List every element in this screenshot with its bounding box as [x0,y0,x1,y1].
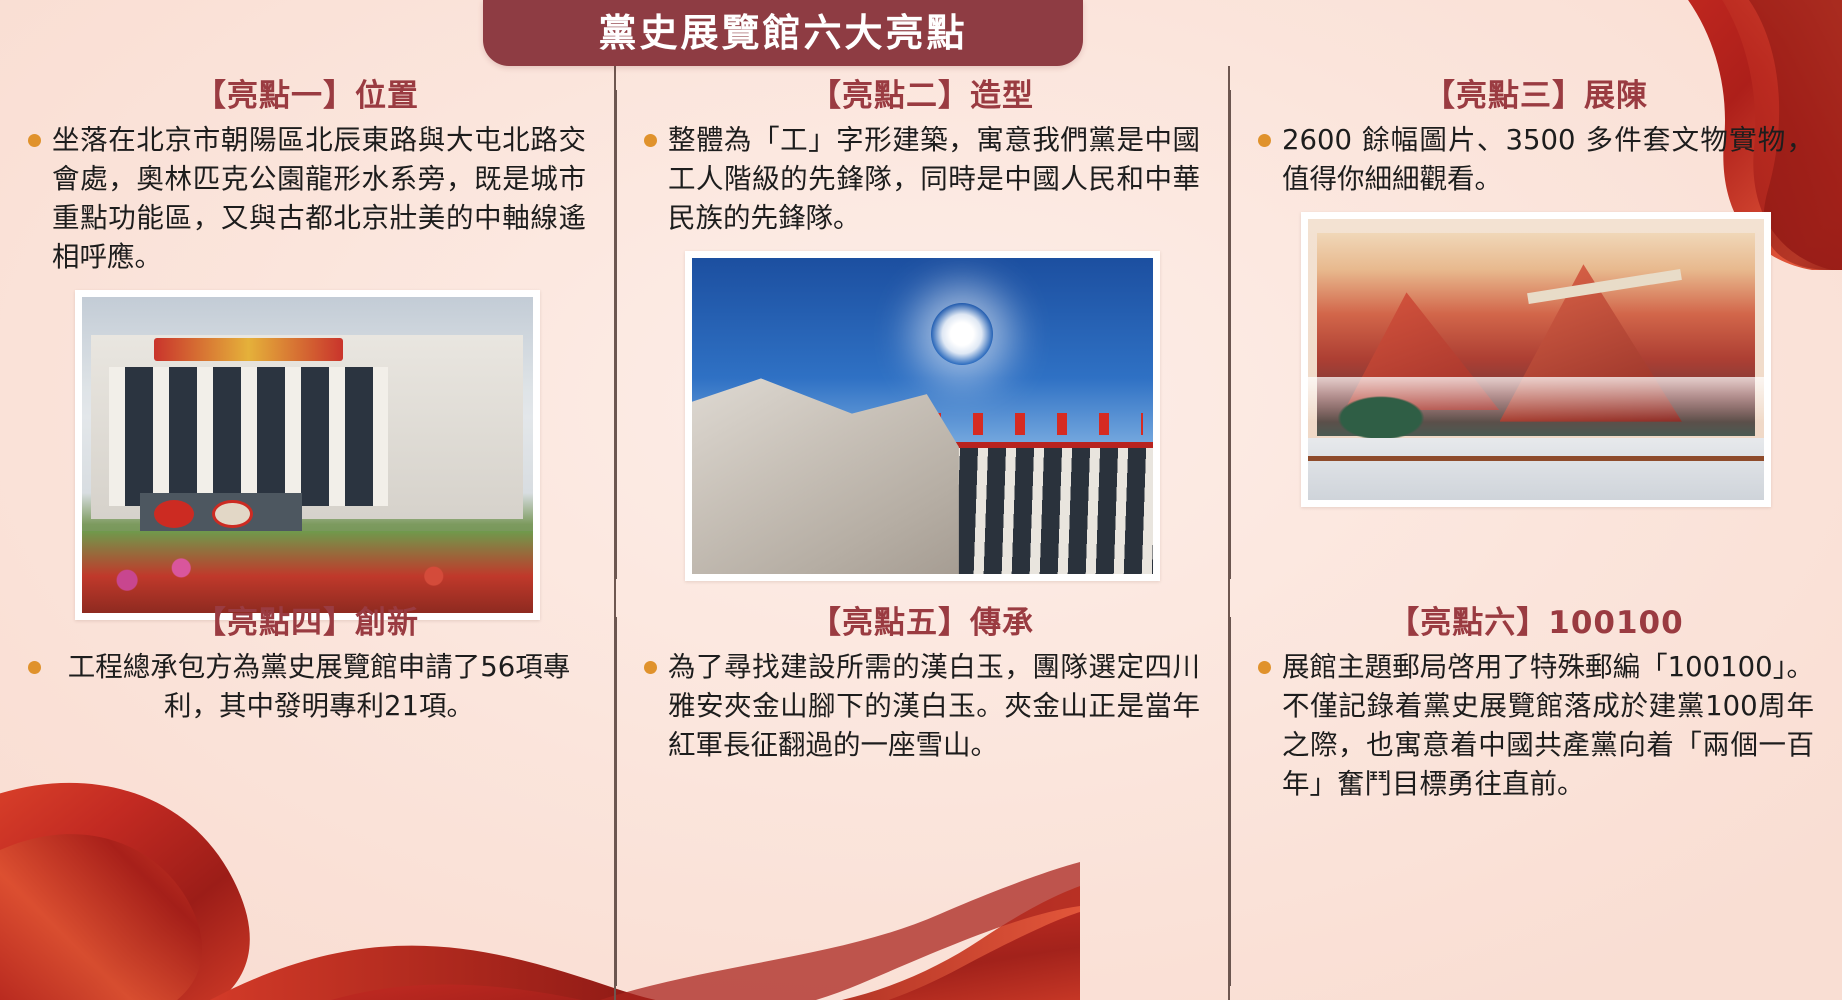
panel-highlight-6: 【亮點六】100100 展館主題郵局啓用了特殊郵編「100100」。不僅記錄着黨… [1228,593,1842,1000]
panel-divider [1229,617,1231,986]
panel-3-body: 2600 餘幅圖片、3500 多件套文物實物，值得你細細觀看。 [1252,121,1820,199]
panel-3-text: 2600 餘幅圖片、3500 多件套文物實物，值得你細細觀看。 [1282,121,1814,199]
panel-1-heading: 【亮點一】位置 [22,78,592,115]
panel-5-heading: 【亮點五】傳承 [638,605,1206,642]
panel-2-text: 整體為「工」字形建築，寓意我們黨是中國工人階級的先鋒隊，同時是中國人民和中華民族… [668,121,1200,238]
panel-6-body: 展館主題郵局啓用了特殊郵編「100100」。不僅記錄着黨史展覽館落成於建黨100… [1252,648,1820,804]
bullet-dot-icon [644,661,657,674]
page-title: 黨史展覽館六大亮點 [598,14,967,52]
panel-highlight-1: 【亮點一】位置 坐落在北京市朝陽區北辰東路與大屯北路交會處，奧林匹克公園龍形水系… [0,66,614,593]
panel-4-text: 工程總承包方為黨史展覽館申請了56項專利，其中發明專利21項。 [52,648,586,726]
panel-1-text: 坐落在北京市朝陽區北辰東路與大屯北路交會處，奧林匹克公園龍形水系旁，既是城市重點… [52,121,586,277]
panel-highlight-5: 【亮點五】傳承 為了尋找建設所需的漢白玉，團隊選定四川雅安夾金山腳下的漢白玉。夾… [614,593,1228,1000]
panel-6-text: 展館主題郵局啓用了特殊郵編「100100」。不僅記錄着黨史展覽館落成於建黨100… [1282,648,1814,804]
panel-6-heading: 【亮點六】100100 [1252,605,1820,642]
panel-1-body: 坐落在北京市朝陽區北辰東路與大屯北路交會處，奧林匹克公園龍形水系旁，既是城市重點… [22,121,592,277]
panel-2-body: 整體為「工」字形建築，寓意我們黨是中國工人階級的先鋒隊，同時是中國人民和中華民族… [638,121,1206,238]
panel-2-photo [685,251,1160,581]
panel-1-photo [75,290,540,620]
panel-4-body: 工程總承包方為黨史展覽館申請了56項專利，其中發明專利21項。 [22,648,592,726]
bullet-dot-icon [1258,661,1271,674]
highlights-grid: 【亮點一】位置 坐落在北京市朝陽區北辰東路與大屯北路交會處，奧林匹克公園龍形水系… [0,66,1842,1000]
bullet-dot-icon [28,661,41,674]
panel-5-body: 為了尋找建設所需的漢白玉，團隊選定四川雅安夾金山腳下的漢白玉。夾金山正是當年紅軍… [638,648,1206,765]
bullet-dot-icon [1258,134,1271,147]
title-banner: 黨史展覽館六大亮點 [483,0,1083,66]
bullet-dot-icon [644,134,657,147]
infographic-root: 黨史展覽館六大亮點 【亮點一】位置 坐落在北京市朝陽區北辰東路與大屯北路交會處，… [0,0,1842,1000]
panel-highlight-2: 【亮點二】造型 整體為「工」字形建築，寓意我們黨是中國工人階級的先鋒隊，同時是中… [614,66,1228,593]
panel-3-heading: 【亮點三】展陳 [1252,78,1820,115]
panel-divider [615,90,617,579]
panel-3-photo [1301,212,1771,507]
panel-highlight-4: 【亮點四】創新 工程總承包方為黨史展覽館申請了56項專利，其中發明專利21項。 [0,593,614,1000]
panel-divider [615,617,617,986]
panel-4-heading: 【亮點四】創新 [22,605,592,642]
bullet-dot-icon [28,134,41,147]
panel-5-text: 為了尋找建設所需的漢白玉，團隊選定四川雅安夾金山腳下的漢白玉。夾金山正是當年紅軍… [668,648,1200,765]
panel-2-heading: 【亮點二】造型 [638,78,1206,115]
panel-divider [1229,90,1231,579]
panel-highlight-3: 【亮點三】展陳 2600 餘幅圖片、3500 多件套文物實物，值得你細細觀看。 [1228,66,1842,593]
